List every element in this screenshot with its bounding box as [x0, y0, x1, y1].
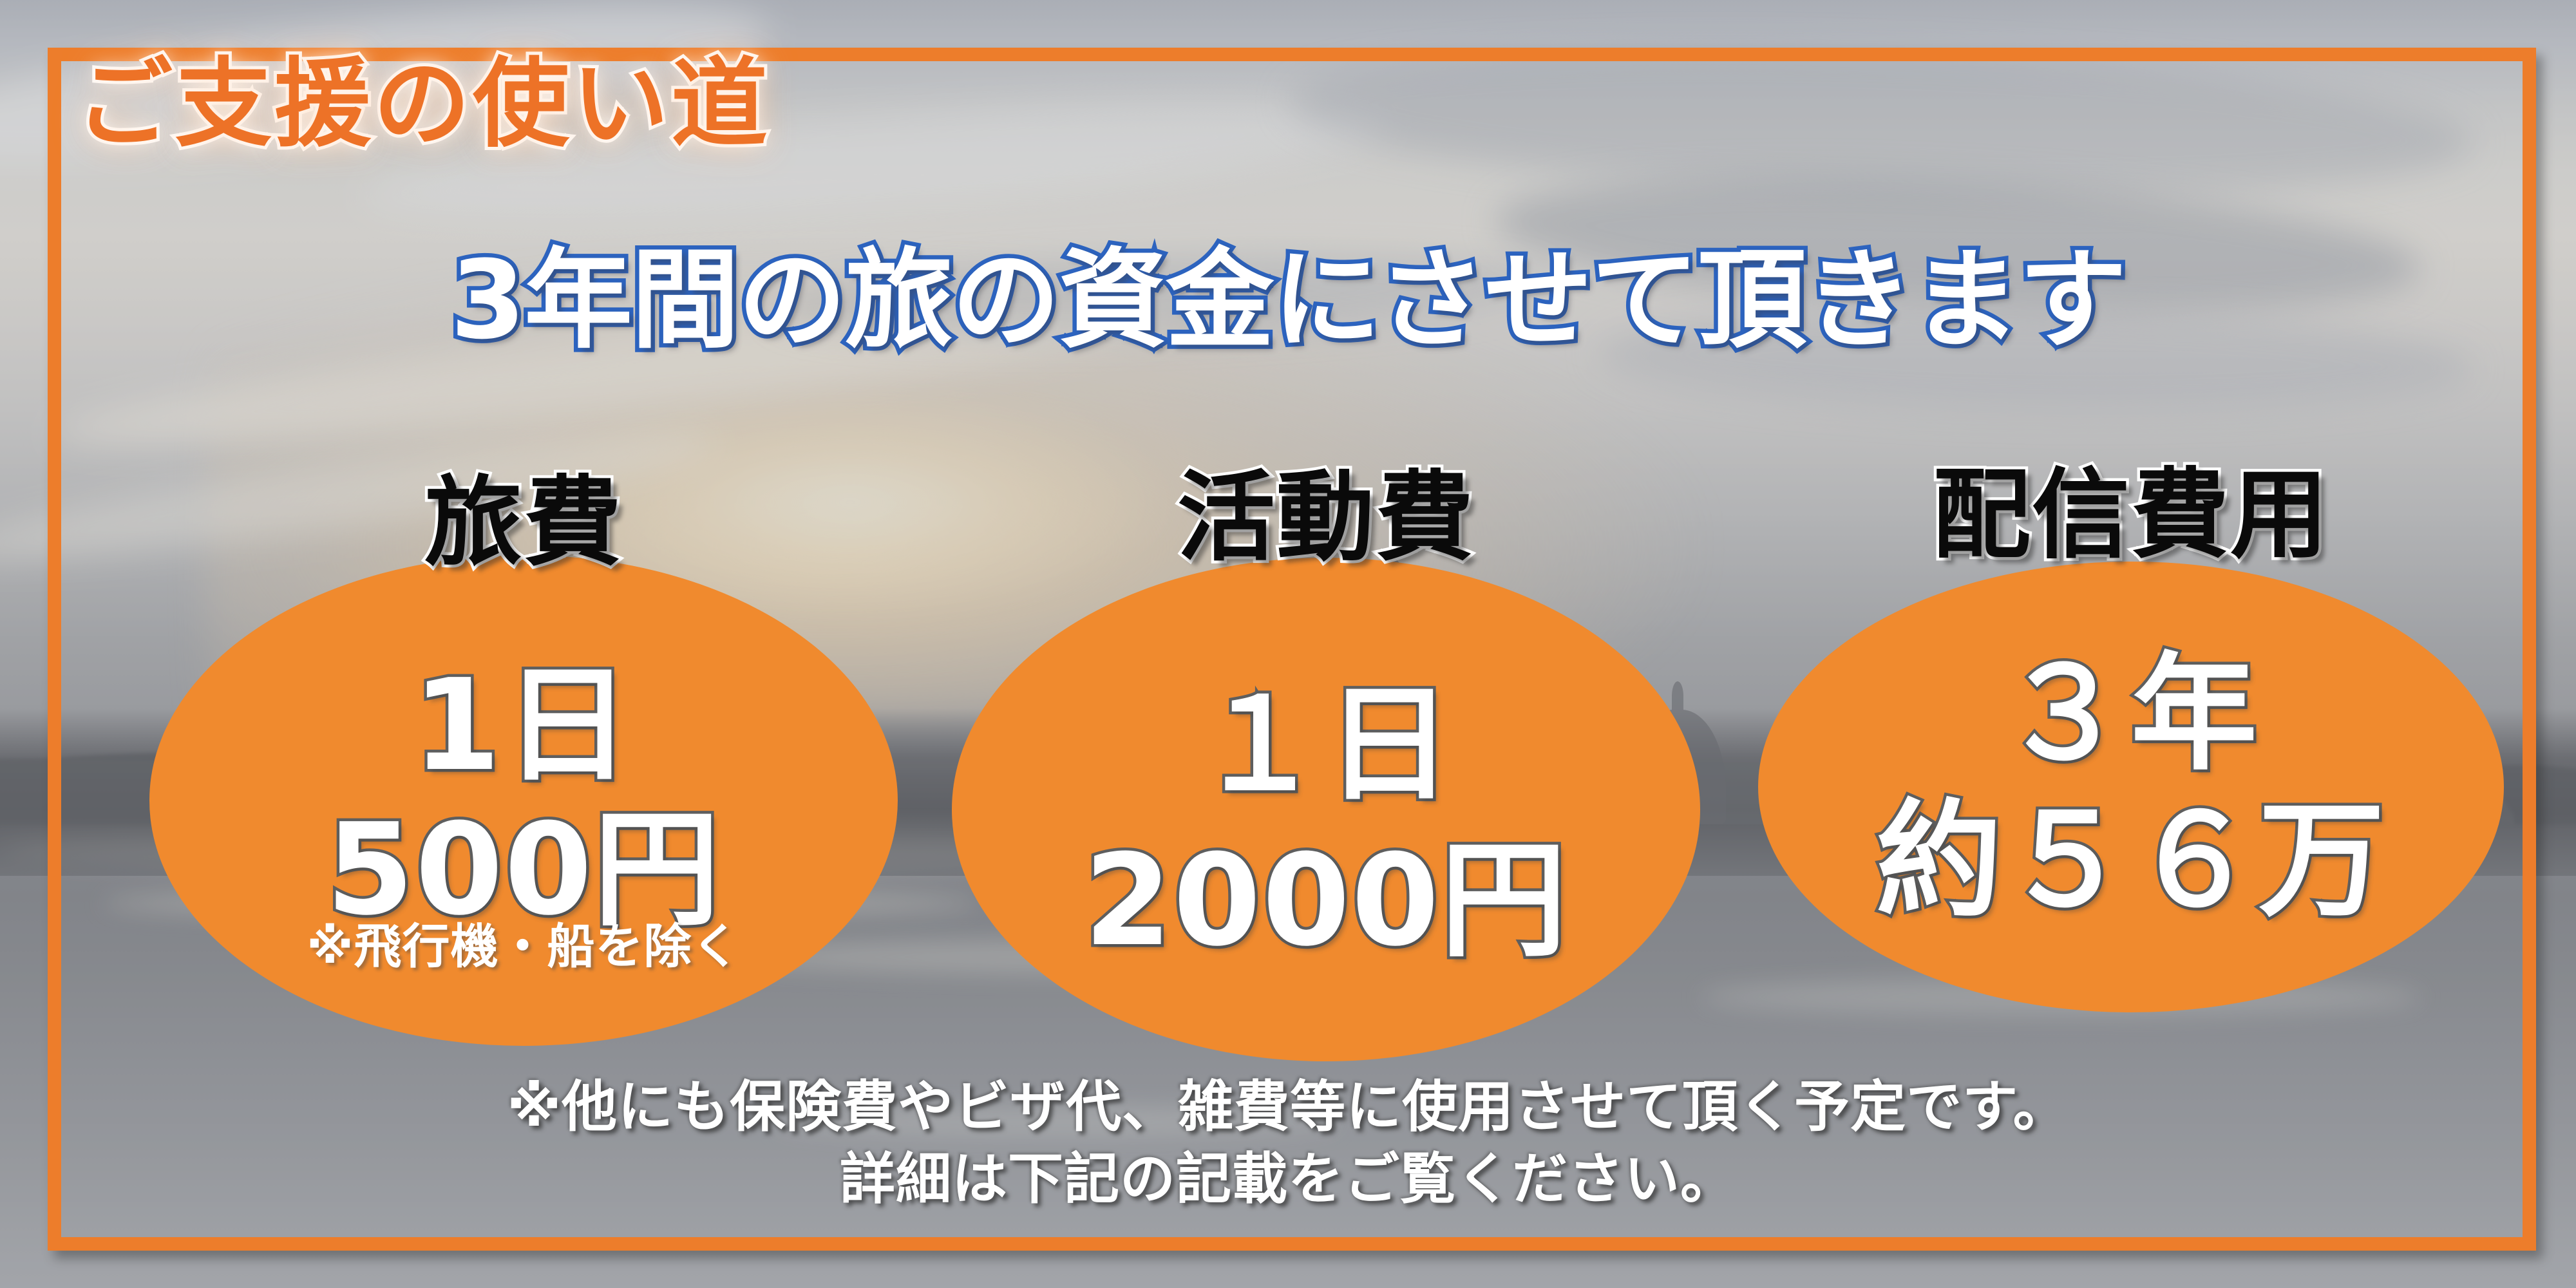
- page-title: ご支援の使い道: [76, 26, 770, 166]
- cost-card-streaming: 配信費用 ３年 約５６万: [1758, 562, 2504, 1012]
- cost-card-activity: 活動費 １日 2000円: [952, 558, 1700, 1061]
- card-heading: 活動費: [1177, 438, 1475, 580]
- card-heading: 旅費: [424, 443, 623, 585]
- poster-canvas: ご支援の使い道 3年間の旅の資金にさせて頂きます 旅費 1日 500円 ※飛行機…: [0, 0, 2576, 1288]
- footer-notes: ※他にも保険費やビザ代、雑費等に使用させて頂く予定です。 詳細は下記の記載をご覧…: [0, 1072, 2576, 1216]
- cost-card-travel: 旅費 1日 500円 ※飛行機・船を除く: [149, 555, 898, 1046]
- card-note: ※飛行機・船を除く: [149, 908, 898, 977]
- card-amount-period: １日: [952, 643, 1700, 825]
- page-subtitle: 3年間の旅の資金にさせて頂きます: [0, 213, 2576, 369]
- card-amount-value: 約５６万: [1758, 759, 2504, 941]
- card-heading: 配信費用: [1933, 435, 2329, 577]
- card-amount-value: 2000円: [952, 799, 1700, 981]
- footer-line-1: ※他にも保険費やビザ代、雑費等に使用させて頂く予定です。: [0, 1072, 2576, 1144]
- footer-line-2: 詳細は下記の記載をご覧ください。: [0, 1144, 2576, 1216]
